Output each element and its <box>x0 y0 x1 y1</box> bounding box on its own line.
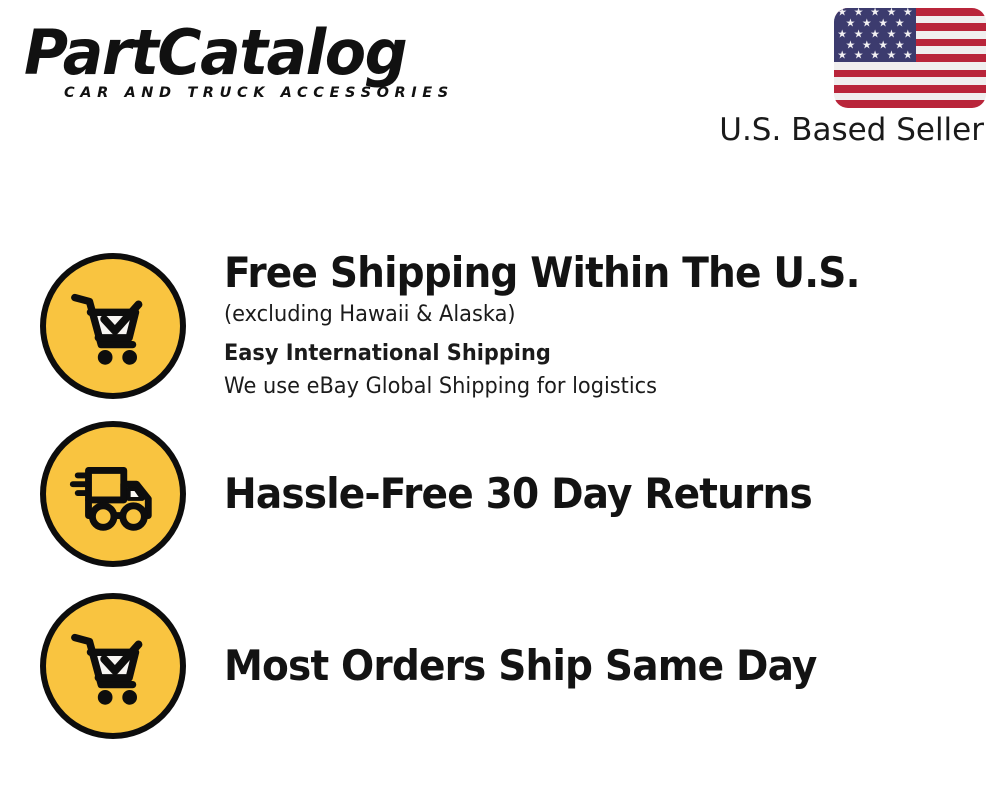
feature-subdetail: We use eBay Global Shipping for logistic… <box>224 370 933 403</box>
feature-subheading: Easy International Shipping <box>224 331 933 370</box>
feature-text-block: Most Orders Ship Same Day <box>186 641 970 691</box>
shopping-cart-check-icon <box>64 617 162 715</box>
feature-row: Most Orders Ship Same Day <box>40 593 970 739</box>
us-flag-icon: ★★★★★★★★★★★★★★★★★★★★★★★ <box>834 8 986 108</box>
flag-stripe <box>834 70 986 78</box>
feature-headline: Hassle-Free 30 Day Returns <box>224 469 918 519</box>
flag-stripe <box>834 85 986 93</box>
seller-label: U.S. Based Seller <box>718 110 988 150</box>
feature-headline: Most Orders Ship Same Day <box>224 641 918 691</box>
feature-headline: Free Shipping Within The U.S. <box>224 248 918 298</box>
flag-star: ★ <box>887 51 897 62</box>
flag-star: ★ <box>903 51 913 62</box>
feature-row: Hassle-Free 30 Day Returns <box>40 421 970 567</box>
brand-wordmark: PartCatalog <box>24 22 480 84</box>
delivery-truck-icon <box>64 445 162 543</box>
feature-row: Free Shipping Within The U.S. (excluding… <box>40 248 970 403</box>
flag-canton: ★★★★★★★★★★★★★★★★★★★★★★★ <box>834 8 916 62</box>
us-based-seller-badge: ★★★★★★★★★★★★★★★★★★★★★★★ U.S. Based Selle… <box>718 8 988 150</box>
flag-star: ★ <box>837 51 847 62</box>
shipping-info-banner: PartCatalog CAR AND TRUCK ACCESSORIES ★★… <box>0 0 1000 800</box>
feature-icon-badge <box>40 421 186 567</box>
feature-icon-badge <box>40 593 186 739</box>
feature-text-block: Hassle-Free 30 Day Returns <box>186 469 970 519</box>
flag-star: ★ <box>854 51 864 62</box>
shopping-cart-check-icon <box>64 277 162 375</box>
flag-star: ★ <box>870 51 880 62</box>
brand-logo: PartCatalog CAR AND TRUCK ACCESSORIES <box>24 22 494 114</box>
flag-stripe <box>834 100 986 108</box>
feature-text-block: Free Shipping Within The U.S. (excluding… <box>186 248 970 403</box>
feature-icon-badge <box>40 253 186 399</box>
feature-subnote: (excluding Hawaii & Alaska) <box>224 298 933 331</box>
